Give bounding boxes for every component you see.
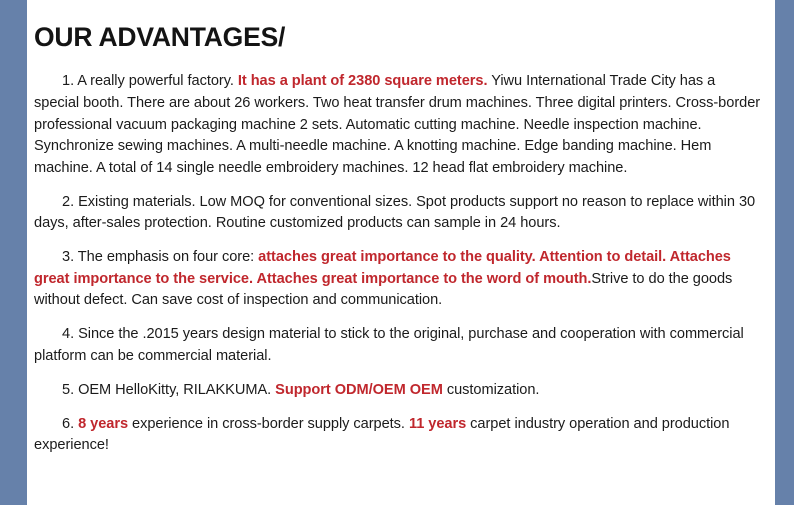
paragraph-advantage-2: 2. Existing materials. Low MOQ for conve… <box>34 192 764 235</box>
emphasis-text: It has a plant of 2380 square meters. <box>238 73 488 89</box>
left-accent-bar <box>0 0 27 505</box>
emphasis-text: 8 years <box>78 416 128 432</box>
page-title: OUR ADVANTAGES/ <box>34 0 764 52</box>
advantages-list: 1. A really powerful factory. It has a p… <box>34 71 764 456</box>
emphasis-text: Support ODM/OEM OEM <box>275 382 443 398</box>
right-margin <box>794 0 800 505</box>
body-text: experience in cross-border supply carpet… <box>128 416 409 432</box>
paragraph-advantage-6: 6. 8 years experience in cross-border su… <box>34 414 764 457</box>
body-text: 4. Since the .2015 years design material… <box>34 326 744 364</box>
paragraph-advantage-5: 5. OEM HelloKitty, RILAKKUMA. Support OD… <box>34 380 764 402</box>
body-text: 2. Existing materials. Low MOQ for conve… <box>34 194 755 232</box>
body-text: customization. <box>443 382 540 398</box>
right-accent-bar <box>775 0 794 505</box>
body-text: 6. <box>62 416 78 432</box>
document-page: OUR ADVANTAGES/ 1. A really powerful fac… <box>0 0 800 505</box>
body-text: 1. A really powerful factory. <box>62 73 238 89</box>
paragraph-advantage-4: 4. Since the .2015 years design material… <box>34 324 764 367</box>
body-text: 5. OEM HelloKitty, RILAKKUMA. <box>62 382 275 398</box>
paragraph-advantage-1: 1. A really powerful factory. It has a p… <box>34 71 764 179</box>
paragraph-advantage-3: 3. The emphasis on four core: attaches g… <box>34 247 764 312</box>
document-content: OUR ADVANTAGES/ 1. A really powerful fac… <box>34 0 770 505</box>
body-text: 3. The emphasis on four core: <box>62 249 258 265</box>
emphasis-text: 11 years <box>409 416 466 432</box>
